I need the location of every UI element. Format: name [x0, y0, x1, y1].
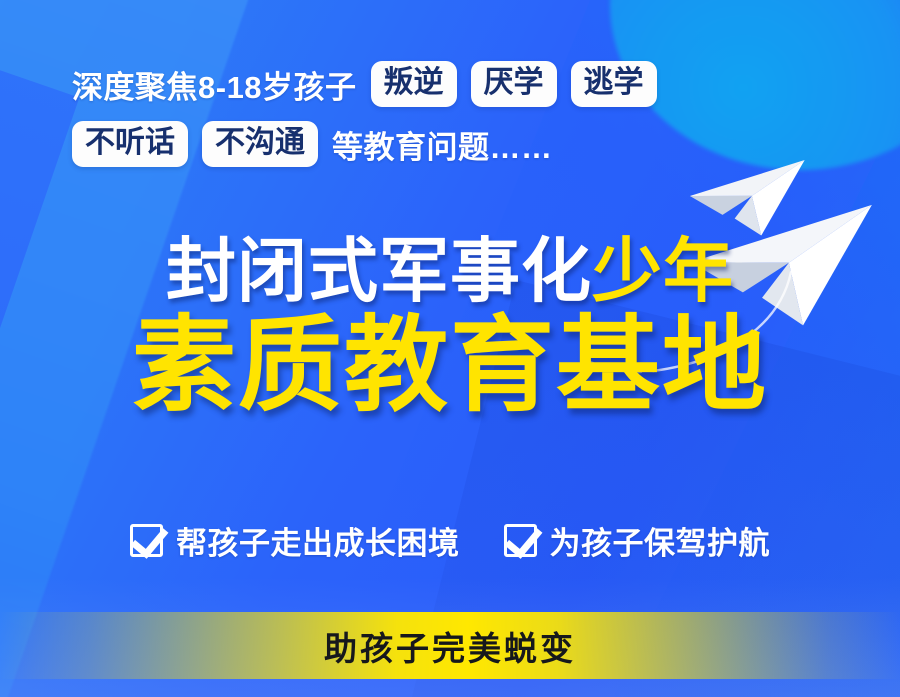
- keyword-pill-yanxue[interactable]: 厌学: [471, 61, 557, 107]
- promo-banner: 深度聚焦8-18岁孩子 叛逆 厌学 逃学 不听话 不沟通 等教育问题…… 封闭式…: [0, 0, 900, 697]
- benefits-row: 帮孩子走出成长困境 为孩子保驾护航: [0, 518, 900, 563]
- keyword-row-2: 不听话 不沟通 等教育问题……: [72, 118, 832, 170]
- headline-line-2: 素质教育基地: [0, 313, 900, 420]
- bottom-slogan-text: 助孩子完美蜕变: [324, 622, 576, 670]
- benefit-label-2: 为孩子保驾护航: [550, 518, 771, 563]
- headline-line-1-white: 封闭式军事化: [166, 232, 592, 310]
- keyword-pill-butinghua[interactable]: 不听话: [72, 121, 188, 167]
- keyword-rows: 深度聚焦8-18岁孩子 叛逆 厌学 逃学 不听话 不沟通 等教育问题……: [72, 58, 832, 178]
- headline-line-1: 封闭式军事化少年: [0, 236, 900, 307]
- checkbox-checked-icon: [130, 524, 163, 557]
- keyword-row-1: 深度聚焦8-18岁孩子 叛逆 厌学 逃学: [72, 58, 832, 110]
- headline-line-1-yellow: 少年: [592, 232, 734, 310]
- keyword-row-1-lead-text: 深度聚焦8-18岁孩子: [72, 62, 357, 107]
- benefit-item-2: 为孩子保驾护航: [504, 518, 771, 563]
- benefit-item-1: 帮孩子走出成长困境: [130, 518, 460, 563]
- keyword-pill-taoxue[interactable]: 逃学: [571, 61, 657, 107]
- bottom-slogan-band: 助孩子完美蜕变: [0, 612, 900, 679]
- keyword-pill-bugoutong[interactable]: 不沟通: [202, 121, 318, 167]
- keyword-row-2-trailing-text: 等教育问题……: [332, 122, 553, 167]
- keyword-pill-panni[interactable]: 叛逆: [371, 61, 457, 107]
- headline-block: 封闭式军事化少年 素质教育基地: [0, 236, 900, 421]
- benefit-label-1: 帮孩子走出成长困境: [176, 518, 460, 563]
- checkbox-checked-icon: [504, 524, 537, 557]
